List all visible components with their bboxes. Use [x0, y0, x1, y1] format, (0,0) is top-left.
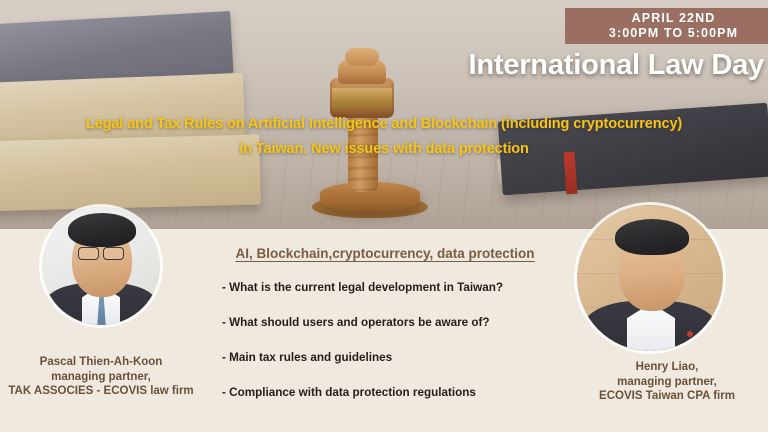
speaker-organization: ECOVIS Taiwan CPA firm	[566, 389, 768, 404]
event-date-badge: APRIL 22ND 3:00PM TO 5:00PM	[565, 8, 768, 44]
list-item: - What should users and operators be awa…	[222, 316, 582, 330]
speaker-organization: TAK ASSOCIES - ECOVIS law firm	[0, 384, 202, 399]
avatar-speaker-right	[577, 205, 723, 351]
avatar-speaker-left	[42, 207, 160, 325]
glasses-icon	[103, 247, 124, 260]
agenda-heading: AI, Blockchain,cryptocurrency, data prot…	[205, 246, 565, 261]
event-poster: APRIL 22ND 3:00PM TO 5:00PM Internationa…	[0, 0, 768, 432]
hair-shape	[68, 213, 136, 247]
speaker-left-info: Pascal Thien-Ah-Koon managing partner, T…	[0, 355, 202, 399]
event-subtitle: Legal and Tax Rules on Artificial Intell…	[0, 112, 768, 162]
speaker-role: managing partner,	[0, 370, 202, 385]
list-item: - What is the current legal development …	[222, 281, 582, 295]
speaker-name: Pascal Thien-Ah-Koon	[0, 355, 202, 370]
lapel-pin-icon	[687, 331, 693, 337]
event-time: 3:00PM TO 5:00PM	[609, 26, 738, 41]
subtitle-line-1: Legal and Tax Rules on Artificial Intell…	[0, 112, 768, 137]
subtitle-line-2: in Taiwan. New issues with data protecti…	[0, 137, 768, 162]
hair-shape	[615, 219, 689, 255]
speaker-role: managing partner,	[566, 375, 768, 390]
agenda-list: - What is the current legal development …	[222, 281, 582, 421]
speaker-name: Henry Liao,	[566, 360, 768, 375]
speaker-right-info: Henry Liao, managing partner, ECOVIS Tai…	[566, 360, 768, 404]
page-title: International Law Day	[468, 49, 764, 82]
list-item: - Main tax rules and guidelines	[222, 351, 582, 365]
glasses-icon	[78, 247, 99, 260]
list-item: - Compliance with data protection regula…	[222, 386, 582, 400]
lapel-pin-icon	[134, 319, 139, 324]
event-date: APRIL 22ND	[632, 11, 716, 26]
